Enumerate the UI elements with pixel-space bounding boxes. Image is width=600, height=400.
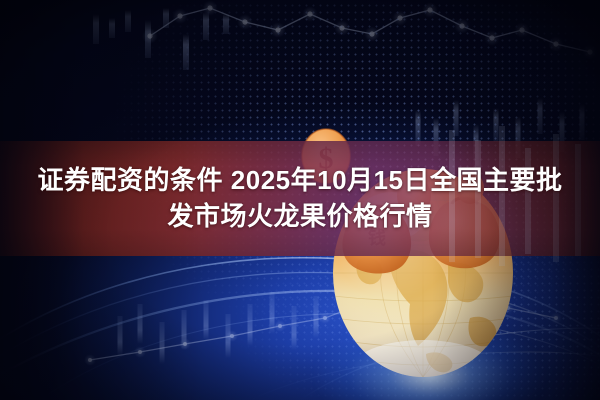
headline-text: 证券配资的条件 2025年10月15日全国主要批 发市场火龙果价格行情 — [0, 141, 600, 256]
headline-line-2: 发市场火龙果价格行情 — [167, 201, 432, 232]
headline-line-1: 证券配资的条件 2025年10月15日全国主要批 — [38, 165, 563, 196]
banner-image: $ 钱 证券配资的条件 2025年10月15日全国主要批 发市场火龙果价格行情 — [0, 0, 600, 400]
